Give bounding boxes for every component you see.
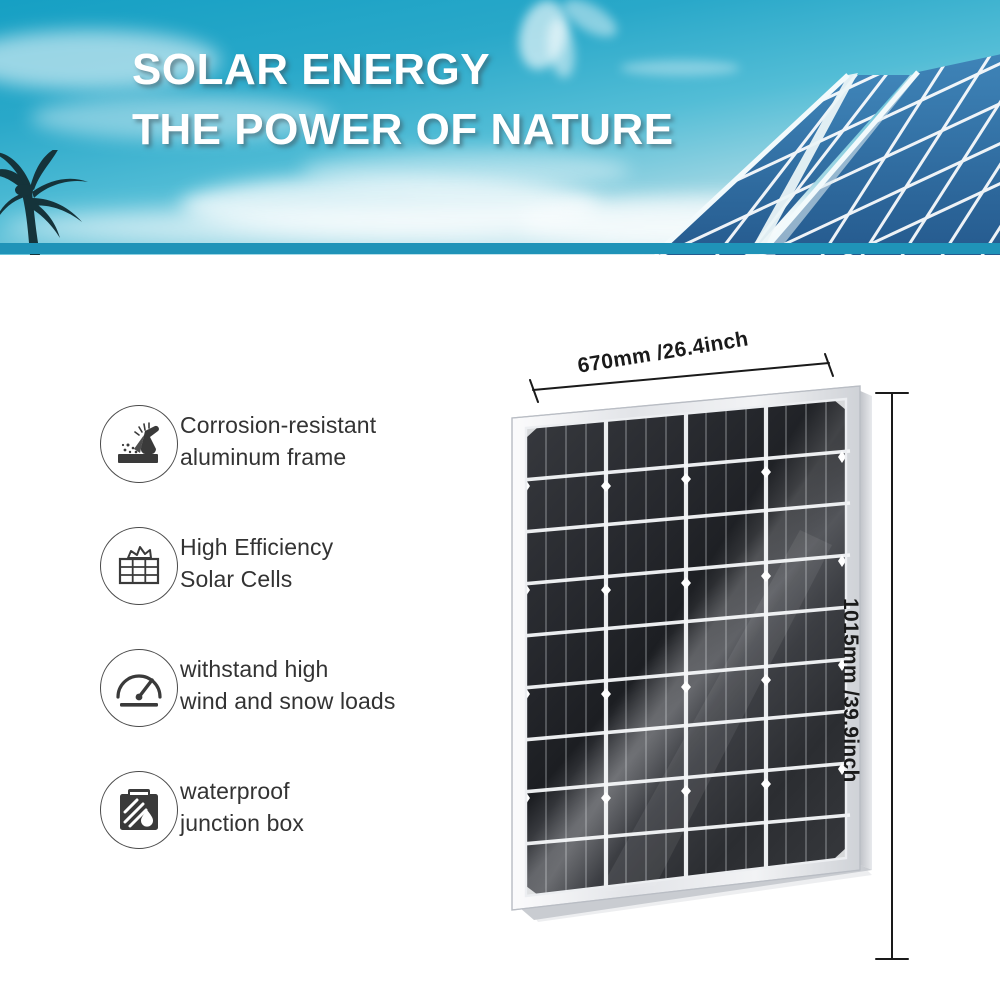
- gauge-icon: [100, 649, 178, 727]
- infographic-root: SOLAR ENERGY THE POWER OF NATURE: [0, 0, 1000, 985]
- height-dimension-label: 1015mm /39.9inch: [838, 598, 862, 783]
- feature-label: High Efficiency Solar Cells: [180, 531, 333, 595]
- feature-item-corrosion: Corrosion-resistant aluminum frame: [0, 405, 470, 527]
- banner-title-line1: SOLAR ENERGY: [132, 40, 674, 100]
- banner-title-line2: THE POWER OF NATURE: [132, 100, 674, 160]
- waterproof-box-icon: [100, 771, 178, 849]
- product-panel-illustration: [480, 330, 1000, 980]
- feature-item-solar-cells: High Efficiency Solar Cells: [0, 527, 470, 649]
- banner-accent-bar: [0, 243, 1000, 254]
- feature-item-wind-snow: withstand high wind and snow loads: [0, 649, 470, 771]
- hero-banner: SOLAR ENERGY THE POWER OF NATURE: [0, 0, 1000, 255]
- feature-list: Corrosion-resistant aluminum frame High …: [0, 405, 470, 893]
- palm-tree-icon: [0, 150, 114, 255]
- feature-item-waterproof: waterproof junction box: [0, 771, 470, 893]
- banner-title: SOLAR ENERGY THE POWER OF NATURE: [132, 40, 674, 160]
- solar-panel-graphic: [480, 330, 1000, 980]
- feature-label: waterproof junction box: [180, 775, 304, 839]
- feature-label: withstand high wind and snow loads: [180, 653, 395, 717]
- feature-label: Corrosion-resistant aluminum frame: [180, 409, 376, 473]
- solar-cell-icon: [100, 527, 178, 605]
- corrosion-icon: [100, 405, 178, 483]
